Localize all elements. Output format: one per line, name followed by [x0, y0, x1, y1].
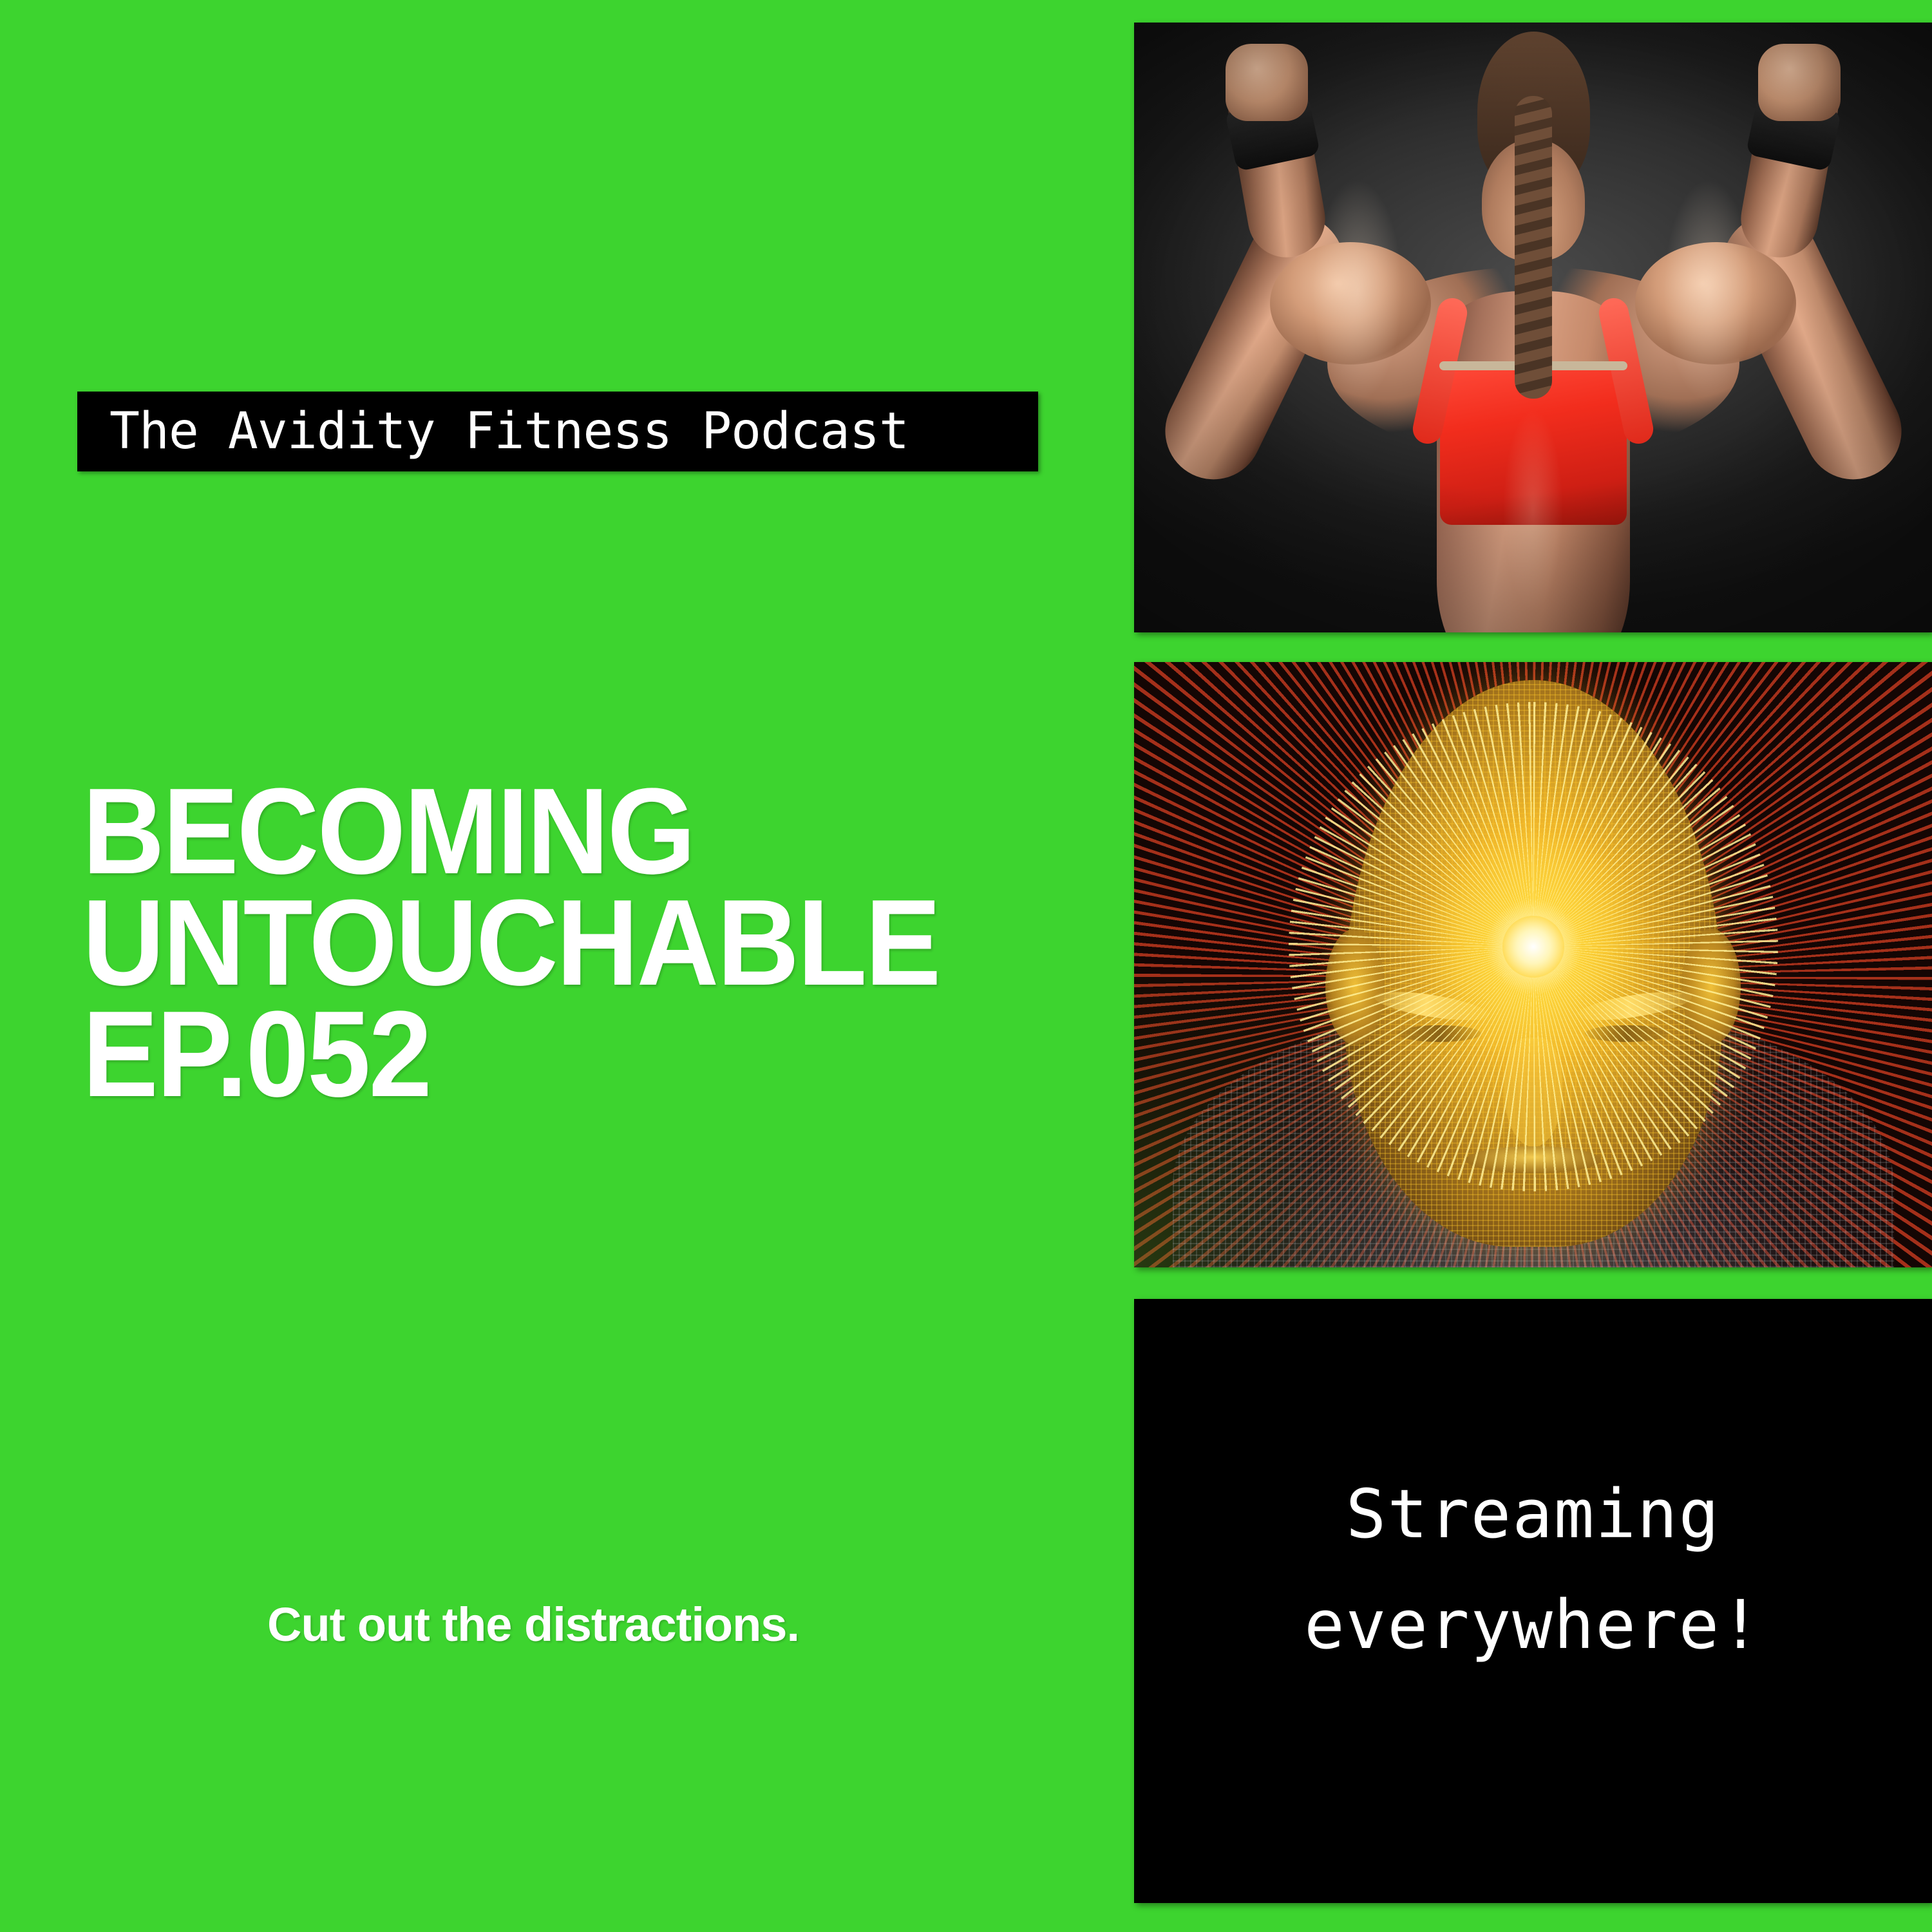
starburst-core	[1502, 916, 1564, 978]
photo-vignette	[1134, 23, 1932, 632]
fitness-photo-panel	[1134, 23, 1932, 632]
episode-title-line-1: BECOMING	[82, 776, 1053, 887]
show-title-label: The Avidity Fitness Podcast	[109, 402, 909, 460]
episode-title-line-2: UNTOUCHABLE	[82, 887, 1053, 999]
show-title-bar: The Avidity Fitness Podcast	[77, 392, 1038, 471]
episode-title-block: BECOMING UNTOUCHABLE EP.052	[82, 776, 1126, 1110]
podcast-cover-art: The Avidity Fitness Podcast BECOMING UNT…	[0, 0, 1932, 1932]
streaming-line-1: Streaming	[1346, 1459, 1721, 1569]
mind-photo-image	[1134, 662, 1932, 1267]
fitness-photo-image	[1134, 23, 1932, 632]
horizontal-rule-divider: ________	[428, 1307, 699, 1346]
mind-photo-panel	[1134, 662, 1932, 1267]
streaming-text-wrap: Streaming everywhere!	[1134, 1299, 1932, 1903]
episode-tagline: Cut out the distractions.	[267, 1597, 885, 1652]
episode-title-line-3: EP.052	[82, 999, 1053, 1110]
streaming-callout-panel: Streaming everywhere!	[1134, 1299, 1932, 1903]
streaming-line-2: everywhere!	[1304, 1569, 1762, 1680]
